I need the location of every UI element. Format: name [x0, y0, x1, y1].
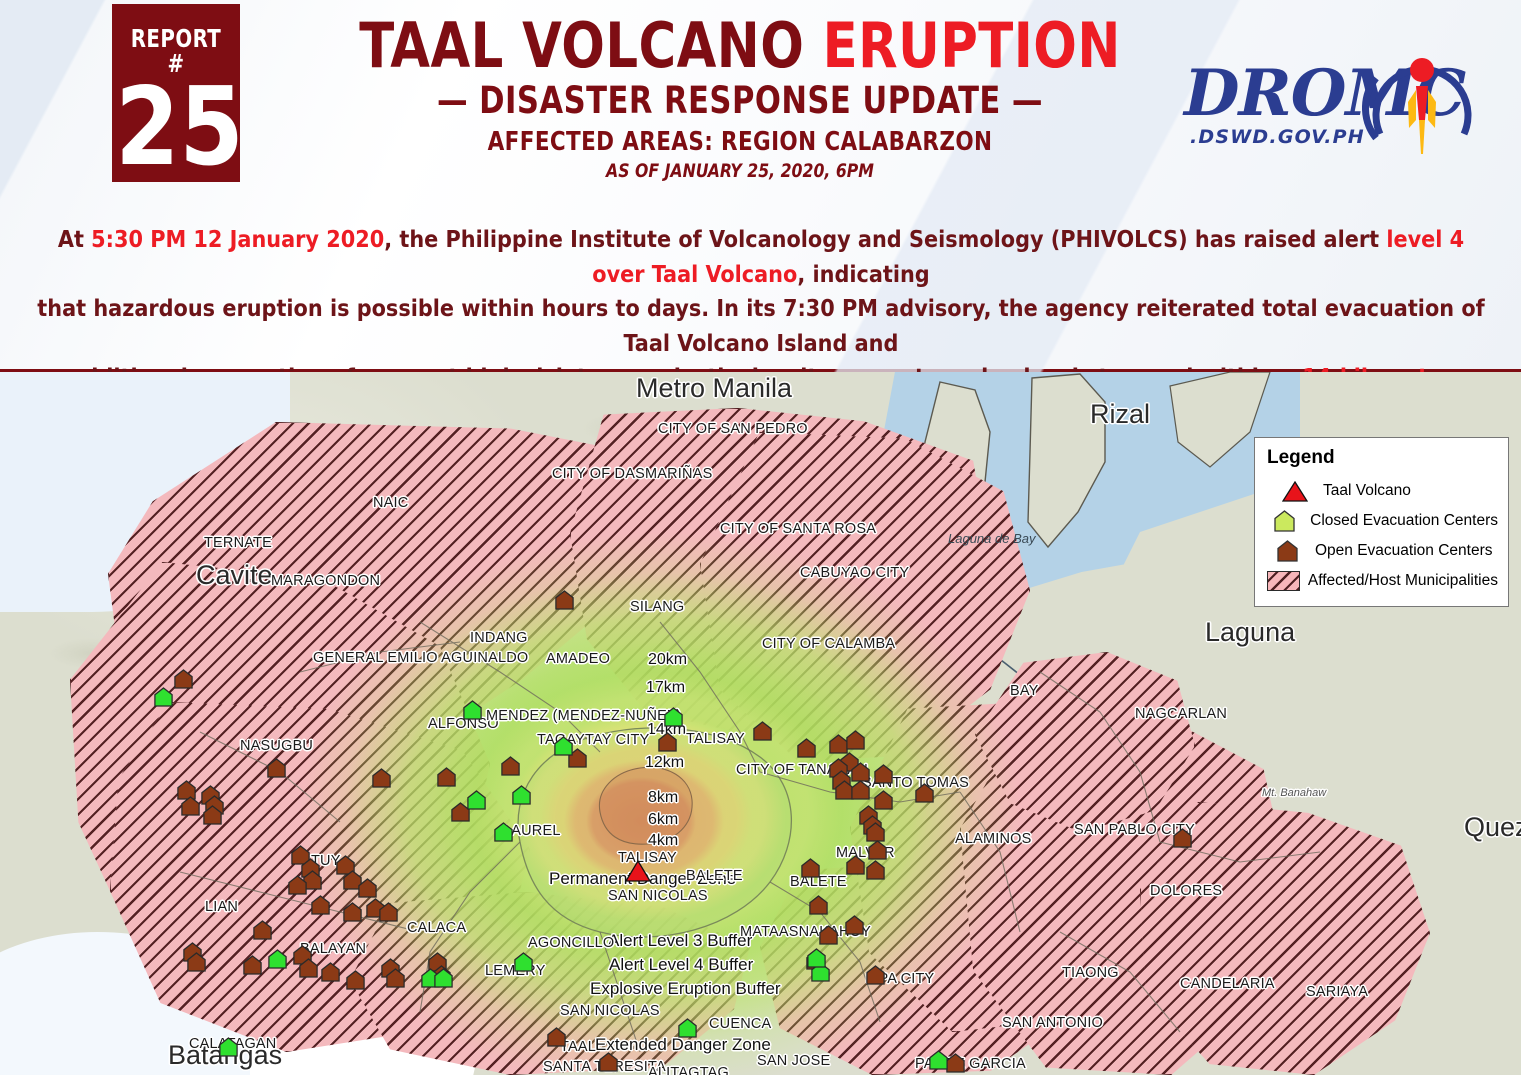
legend-row-open-centers: Open Evacuation Centers: [1267, 536, 1498, 566]
buffer-label-alert-level-4: Alert Level 4 Buffer: [609, 955, 753, 975]
municipality-label-agoncillo: AGONCILLO: [528, 935, 614, 951]
municipality-label-indang: INDANG: [470, 630, 528, 646]
closed-evacuation-center-marker[interactable]: [268, 949, 287, 968]
open-evacuation-center-marker[interactable]: [599, 1052, 618, 1071]
open-evacuation-center-marker[interactable]: [311, 895, 330, 914]
peak-label-mt-banahaw: Mt. Banahaw: [1262, 787, 1326, 799]
closed-evacuation-center-marker[interactable]: [467, 790, 486, 809]
municipality-label-san-nicolas-south: SAN NICOLAS: [560, 1003, 660, 1019]
hazard-map[interactable]: 20km 17km 14km 12km 8km 6km 4km Permanen…: [0, 372, 1521, 1075]
municipality-label-cabuyao-city: CABUYAO CITY: [800, 565, 909, 581]
municipality-label-nagcarlan: NAGCARLAN: [1135, 706, 1227, 722]
legend-label-open-centers: Open Evacuation Centers: [1315, 542, 1493, 560]
title-main-1: TAAL VOLCANO: [359, 9, 822, 82]
municipality-label-mendez: MENDEZ (MENDEZ-NUÑEZ): [486, 708, 681, 724]
municipality-label-alaminos: ALAMINOS: [955, 831, 1032, 847]
open-evacuation-center-icon: [1267, 540, 1307, 562]
volcano-island-outline: [599, 767, 692, 844]
open-evacuation-center-marker[interactable]: [658, 732, 677, 751]
open-evacuation-center-marker[interactable]: [501, 756, 520, 775]
province-label-quezon: Quez: [1464, 812, 1521, 843]
closed-evacuation-center-marker[interactable]: [494, 822, 513, 841]
affected-areas-label: AFFECTED AREAS:: [488, 127, 721, 157]
municipality-label-san-nicolas-crater: SAN NICOLAS: [608, 888, 708, 904]
open-evacuation-center-marker[interactable]: [946, 1053, 965, 1072]
open-evacuation-center-marker[interactable]: [801, 858, 820, 877]
municipality-label-bay: BAY: [1010, 683, 1039, 699]
municipality-label-tiaong: TIAONG: [1062, 965, 1119, 981]
municipality-label-balete-crater: BALETE: [686, 868, 743, 884]
municipality-label-nasugbu: NASUGBU: [240, 738, 313, 754]
open-evacuation-center-marker[interactable]: [915, 783, 934, 802]
closed-evacuation-center-marker[interactable]: [929, 1050, 948, 1069]
open-evacuation-center-marker[interactable]: [299, 958, 318, 977]
municipality-label-talisay-north: TALISAY: [686, 731, 745, 747]
open-evacuation-center-marker[interactable]: [846, 855, 865, 874]
title-block: TAAL VOLCANO ERUPTION — DISASTER RESPONS…: [300, 14, 1180, 182]
open-evacuation-center-marker[interactable]: [547, 1027, 566, 1046]
title-main-2: ERUPTION: [823, 9, 1121, 82]
municipality-label-ternate: TERNATE: [204, 535, 272, 551]
ring-label-12km: 12km: [645, 754, 684, 772]
municipality-label-silang: SILANG: [630, 599, 684, 615]
ring-label-6km: 6km: [648, 811, 678, 829]
closed-evacuation-center-marker[interactable]: [219, 1037, 238, 1056]
closed-evacuation-center-marker[interactable]: [807, 948, 826, 967]
ring-label-20km: 20km: [648, 651, 687, 669]
closed-evacuation-center-marker[interactable]: [463, 700, 482, 719]
report-number-badge: REPORT # 25: [112, 4, 240, 182]
report-number: 25: [115, 78, 237, 177]
open-evacuation-center-marker[interactable]: [253, 920, 272, 939]
buffer-label-alert-level-3: Alert Level 3 Buffer: [608, 931, 752, 951]
municipality-label-lian: LIAN: [205, 899, 238, 915]
summary-line2: that hazardous eruption is possible with…: [37, 294, 1484, 357]
municipality-label-city-of-dasmarinas: CITY OF DASMARIÑAS: [552, 466, 712, 482]
open-evacuation-center-marker[interactable]: [358, 878, 377, 897]
water-label-laguna-de-bay: Laguna de Bay: [948, 531, 1035, 546]
header-banner: REPORT # 25 TAAL VOLCANO ERUPTION — DISA…: [0, 0, 1521, 372]
open-evacuation-center-marker[interactable]: [753, 721, 772, 740]
title-subtitle: — DISASTER RESPONSE UPDATE —: [335, 79, 1145, 122]
open-evacuation-center-marker[interactable]: [288, 875, 307, 894]
volcano-triangle-icon: [1275, 481, 1315, 502]
municipality-label-san-jose: SAN JOSE: [757, 1053, 830, 1069]
summary-line1-b: , the Philippine Institute of Volcanolog…: [384, 225, 1386, 253]
open-evacuation-center-marker[interactable]: [203, 805, 222, 824]
open-evacuation-center-marker[interactable]: [379, 902, 398, 921]
affected-municipalities-swatch-icon: [1267, 571, 1300, 591]
open-evacuation-center-marker[interactable]: [797, 738, 816, 757]
open-evacuation-center-marker[interactable]: [874, 764, 893, 783]
legend-label-closed-centers: Closed Evacuation Centers: [1310, 512, 1498, 530]
municipality-label-city-of-san-pedro: CITY OF SAN PEDRO: [658, 421, 808, 437]
municipality-label-cuenca: CUENCA: [709, 1016, 771, 1032]
municipality-label-alitagtag: ALITAGTAG: [648, 1065, 729, 1075]
summary-line1-a: At: [58, 225, 91, 253]
municipality-label-calaca: CALACA: [407, 920, 466, 936]
open-evacuation-center-marker[interactable]: [174, 669, 193, 688]
page-title: TAAL VOLCANO ERUPTION: [335, 14, 1145, 77]
open-evacuation-center-marker[interactable]: [851, 762, 870, 781]
buffer-label-explosive-eruption: Explosive Eruption Buffer: [590, 979, 781, 999]
municipality-label-city-of-calamba: CITY OF CALAMBA: [762, 636, 895, 652]
municipality-label-dolores: DOLORES: [1150, 883, 1222, 899]
open-evacuation-center-marker[interactable]: [187, 952, 206, 971]
legend-label-taal-volcano: Taal Volcano: [1323, 482, 1411, 500]
open-evacuation-center-marker[interactable]: [866, 860, 885, 879]
affected-areas-value: REGION CALABARZON: [721, 127, 992, 157]
open-evacuation-center-marker[interactable]: [372, 768, 391, 787]
closed-evacuation-center-marker[interactable]: [664, 707, 683, 726]
open-evacuation-center-marker[interactable]: [1173, 828, 1192, 847]
open-evacuation-center-marker[interactable]: [809, 895, 828, 914]
province-label-rizal: Rizal: [1090, 399, 1150, 430]
open-evacuation-center-marker[interactable]: [243, 955, 262, 974]
municipality-label-general-emilio-aguinaldo: GENERAL EMILIO AGUINALDO: [313, 650, 528, 666]
open-evacuation-center-marker[interactable]: [846, 730, 865, 749]
municipality-label-san-antonio: SAN ANTONIO: [1002, 1015, 1103, 1031]
open-evacuation-center-marker[interactable]: [555, 590, 574, 609]
as-of-timestamp: AS OF JANUARY 25, 2020, 6PM: [335, 160, 1145, 182]
closed-evacuation-center-icon: [1267, 510, 1302, 532]
open-evacuation-center-marker[interactable]: [866, 965, 885, 984]
municipality-label-naic: NAIC: [373, 495, 408, 511]
affected-areas-line: AFFECTED AREAS: REGION CALABARZON: [335, 127, 1145, 157]
open-evacuation-center-marker[interactable]: [819, 925, 838, 944]
buffer-label-extended-danger-zone: Extended Danger Zone: [595, 1035, 771, 1055]
ring-label-4km: 4km: [648, 832, 678, 850]
infographic-page: REPORT # 25 TAAL VOLCANO ERUPTION — DISA…: [0, 0, 1521, 1075]
dromic-logo: DROMC .DSWD.GOV.PH: [1176, 40, 1486, 170]
legend-row-affected-municipalities: Affected/Host Municipalities: [1267, 566, 1498, 596]
dromic-emblem-icon: [1362, 42, 1482, 170]
legend-title: Legend: [1267, 447, 1498, 469]
legend-label-affected-municipalities: Affected/Host Municipalities: [1308, 572, 1498, 590]
taal-volcano-marker-icon[interactable]: [625, 860, 651, 882]
open-evacuation-center-marker[interactable]: [181, 796, 200, 815]
map-legend: Legend Taal Volcano Closed Evacuation Ce…: [1254, 437, 1509, 607]
municipality-label-sariaya: SARIAYA: [1306, 984, 1368, 1000]
closed-evacuation-center-marker[interactable]: [554, 736, 573, 755]
province-label-cavite: Cavite: [196, 560, 273, 591]
dromic-url: .DSWD.GOV.PH: [1190, 126, 1365, 148]
province-label-laguna: Laguna: [1205, 617, 1295, 648]
closed-evacuation-center-marker[interactable]: [678, 1018, 697, 1037]
municipality-label-maragondon: MARAGONDON: [271, 573, 380, 589]
open-evacuation-center-marker[interactable]: [346, 970, 365, 989]
closed-evacuation-center-marker[interactable]: [514, 952, 533, 971]
legend-row-taal-volcano: Taal Volcano: [1267, 476, 1498, 506]
ring-label-8km: 8km: [648, 789, 678, 807]
closed-evacuation-center-marker[interactable]: [512, 785, 531, 804]
open-evacuation-center-marker[interactable]: [437, 767, 456, 786]
municipality-label-amadeo: AMADEO: [546, 651, 610, 667]
open-evacuation-center-marker[interactable]: [343, 902, 362, 921]
province-label-metro-manila: Metro Manila: [636, 373, 792, 404]
open-evacuation-center-marker[interactable]: [267, 758, 286, 777]
open-evacuation-center-marker[interactable]: [866, 822, 885, 841]
summary-line1-c: , indicating: [797, 260, 929, 288]
open-evacuation-center-marker[interactable]: [845, 915, 864, 934]
municipality-label-candelaria: CANDELARIA: [1180, 976, 1275, 992]
closed-evacuation-center-marker[interactable]: [154, 687, 173, 706]
summary-line1-highlight-1: 5:30 PM 12 January 2020: [91, 225, 384, 253]
closed-evacuation-center-marker[interactable]: [434, 968, 453, 987]
open-evacuation-center-marker[interactable]: [851, 780, 870, 799]
legend-row-closed-centers: Closed Evacuation Centers: [1267, 506, 1498, 536]
open-evacuation-center-marker[interactable]: [321, 962, 340, 981]
open-evacuation-center-marker[interactable]: [868, 840, 887, 859]
ring-label-17km: 17km: [646, 679, 685, 697]
municipality-label-city-of-santa-rosa: CITY OF SANTA ROSA: [720, 521, 876, 537]
open-evacuation-center-marker[interactable]: [386, 968, 405, 987]
